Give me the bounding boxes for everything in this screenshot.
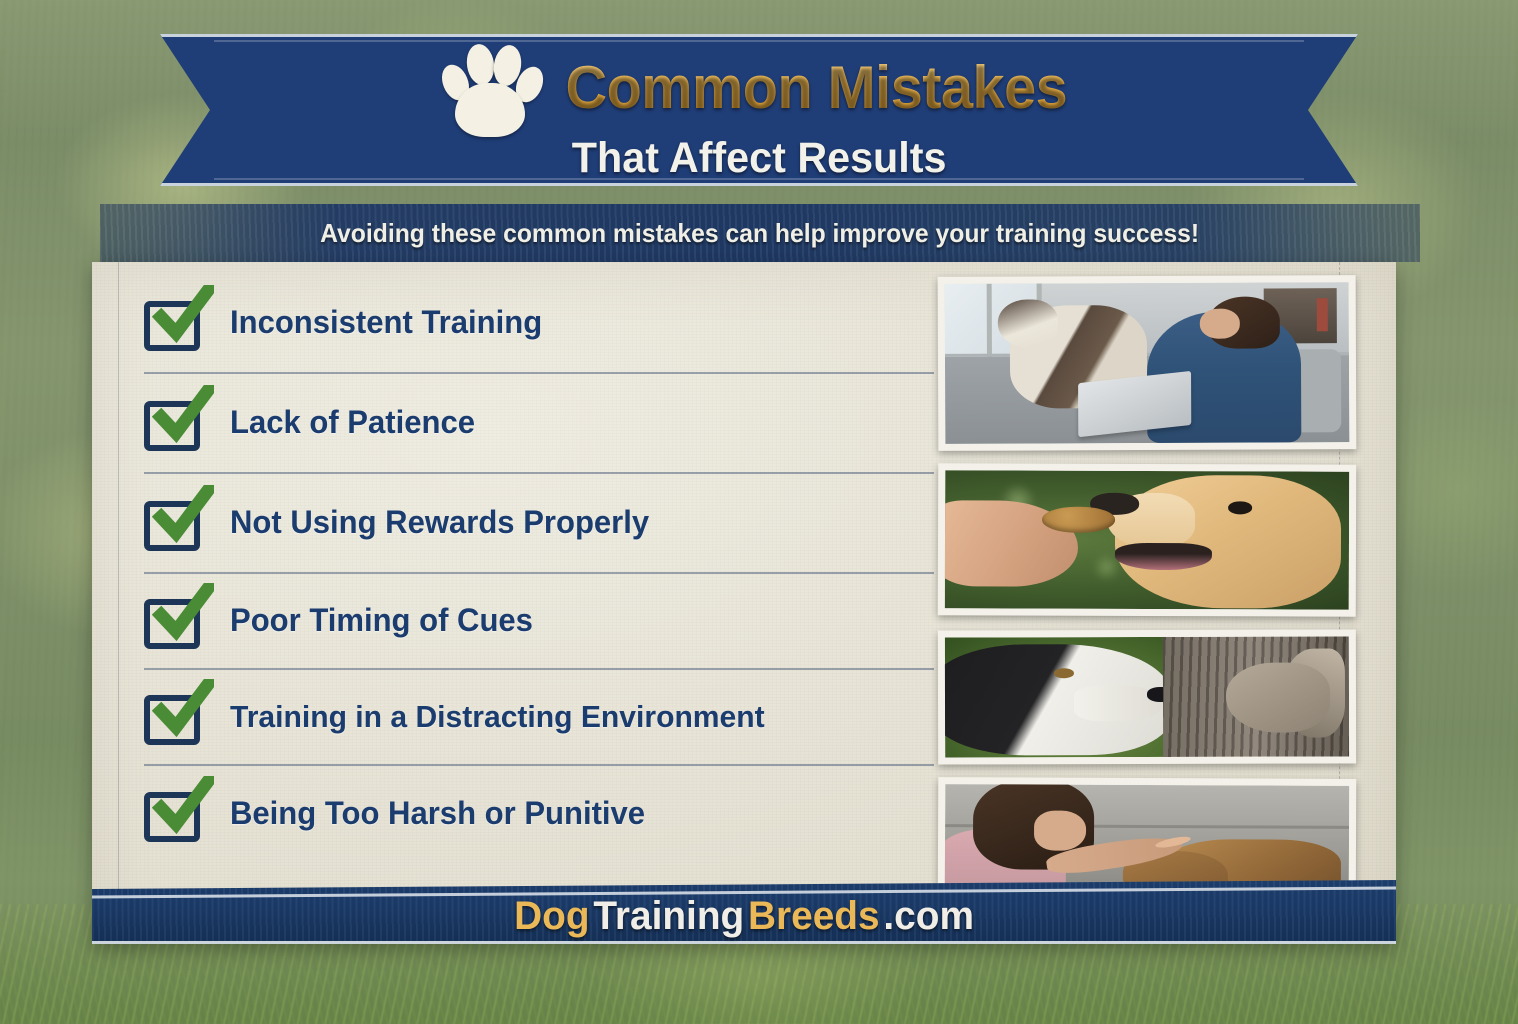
check-mark-icon — [152, 583, 214, 645]
mistakes-checklist: Inconsistent Training Lack of Patience — [144, 274, 934, 862]
brand-part-training: Training — [593, 894, 744, 939]
photo-column — [938, 276, 1356, 924]
subheader-banner: Avoiding these common mistakes can help … — [100, 204, 1420, 262]
checked-checkbox-icon[interactable] — [144, 593, 208, 649]
list-item[interactable]: Poor Timing of Cues — [144, 574, 934, 670]
photo-hand-offering-treat-to-golden-retriever — [938, 463, 1357, 616]
page-subtitle: That Affect Results — [572, 134, 947, 183]
site-brand[interactable]: DogTrainingBreeds.com — [92, 880, 1396, 944]
checked-checkbox-icon[interactable] — [144, 689, 208, 745]
paw-print-icon — [441, 40, 537, 136]
photo-woman-laptop-with-dog-on-couch — [938, 275, 1357, 451]
checked-checkbox-icon[interactable] — [144, 295, 208, 351]
footer-band: DogTrainingBreeds.com — [92, 880, 1396, 944]
page-title: Common Mistakes — [565, 57, 1067, 118]
check-mark-icon — [152, 385, 214, 447]
list-item-label: Not Using Rewards Properly — [230, 505, 649, 541]
list-item-label: Being Too Harsh or Punitive — [230, 796, 645, 832]
infographic-canvas: Common Mistakes That Affect Results Avoi… — [0, 0, 1518, 1024]
list-item[interactable]: Inconsistent Training — [144, 274, 934, 374]
check-mark-icon — [152, 285, 214, 347]
title-ribbon: Common Mistakes That Affect Results — [160, 34, 1358, 186]
brand-part-dog: Dog — [514, 894, 589, 939]
list-item-label: Inconsistent Training — [230, 305, 542, 341]
check-mark-icon — [152, 679, 214, 741]
list-item[interactable]: Not Using Rewards Properly — [144, 474, 934, 574]
brand-part-dotcom: .com — [883, 894, 974, 939]
panel-margin-line-left — [118, 262, 119, 944]
check-mark-icon — [152, 485, 214, 547]
list-item[interactable]: Lack of Patience — [144, 374, 934, 474]
checked-checkbox-icon[interactable] — [144, 395, 208, 451]
checked-checkbox-icon[interactable] — [144, 495, 208, 551]
content-panel: Inconsistent Training Lack of Patience — [92, 262, 1396, 944]
list-item-label: Training in a Distracting Environment — [230, 700, 765, 735]
photo-border-collie-watching-squirrel — [938, 629, 1356, 764]
check-mark-icon — [152, 776, 214, 838]
list-item[interactable]: Training in a Distracting Environment — [144, 670, 934, 766]
list-item-label: Poor Timing of Cues — [230, 603, 533, 639]
brand-part-breeds: Breeds — [748, 894, 880, 939]
list-item[interactable]: Being Too Harsh or Punitive — [144, 766, 934, 862]
list-item-label: Lack of Patience — [230, 405, 475, 441]
checked-checkbox-icon[interactable] — [144, 786, 208, 842]
subheader-text: Avoiding these common mistakes can help … — [321, 218, 1200, 249]
